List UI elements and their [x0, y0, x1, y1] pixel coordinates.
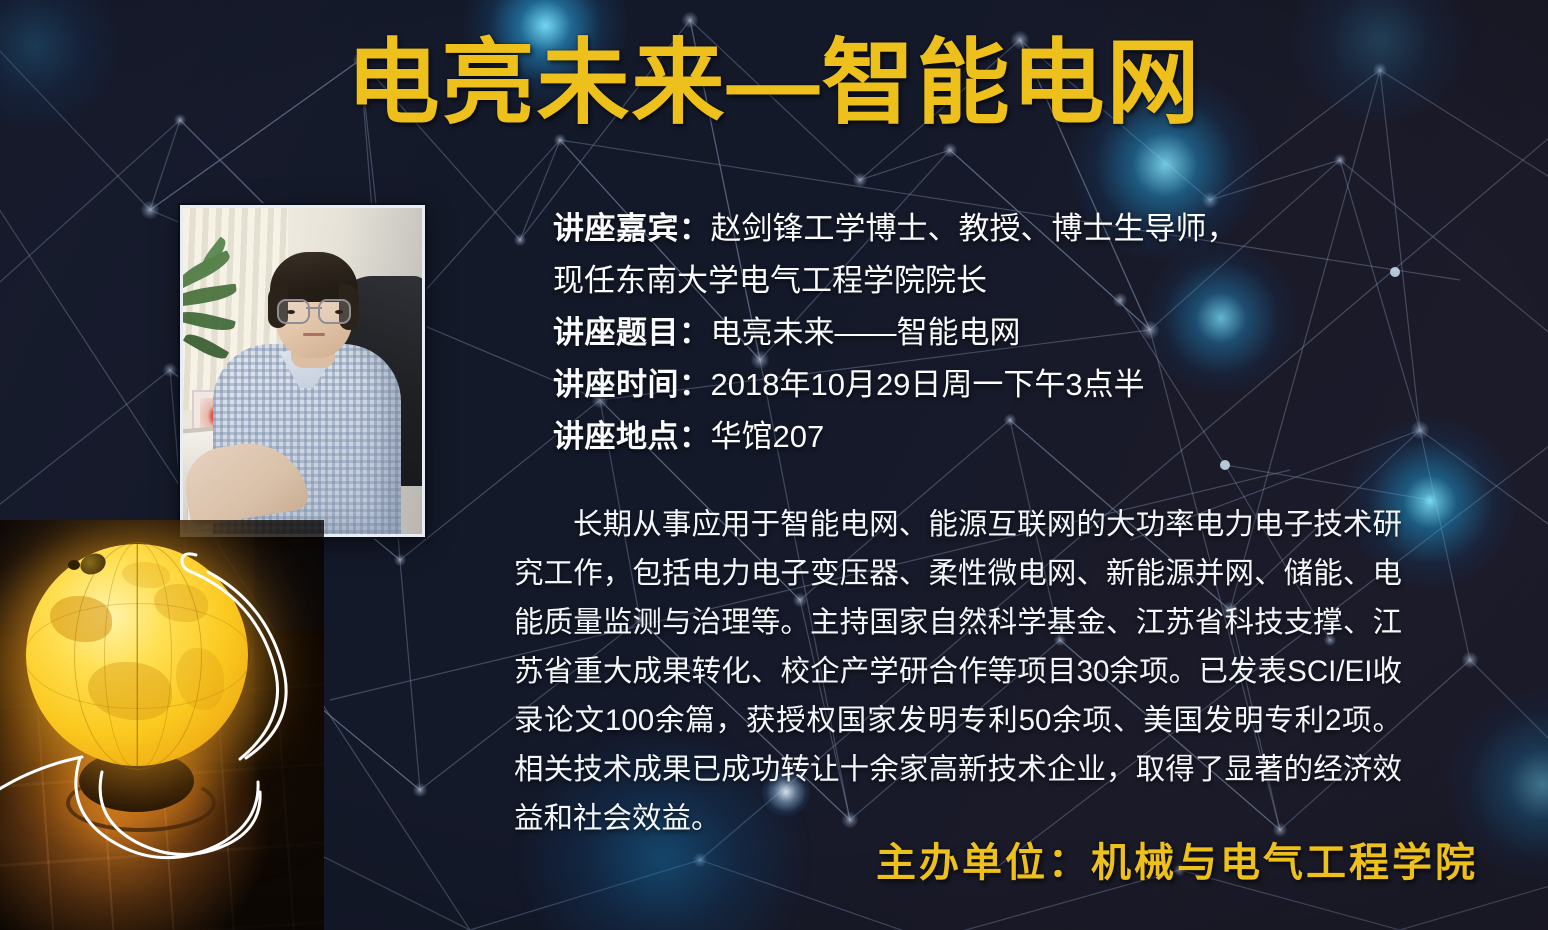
poster-canvas: 电亮未来—智能电网 — [0, 0, 1548, 930]
poster-title: 电亮未来—智能电网 — [0, 34, 1548, 133]
organizer-line: 主办单位：机械与电气工程学院 — [0, 830, 1478, 888]
detail-row-guest: 讲座嘉宾：赵剑锋工学博士、教授、博士生导师， — [553, 203, 1423, 255]
detail-value-guest-name: 赵剑锋 — [711, 211, 804, 246]
detail-value-guest-titles: 工学博士、教授、博士生导师， — [804, 211, 1238, 246]
detail-label-time: 讲座时间： — [553, 367, 711, 402]
detail-value-weekday-time: 周一下午3点半 — [941, 367, 1144, 402]
detail-value-topic: 电亮未来——智能电网 — [711, 315, 1021, 350]
detail-label-venue: 讲座地点： — [553, 419, 711, 454]
speaker-biography: 长期从事应用于智能电网、能源互联网的大功率电力电子技术研究工作，包括电力电子变压… — [514, 500, 1402, 843]
detail-row-topic: 讲座题目：电亮未来——智能电网 — [553, 307, 1423, 359]
detail-value-date: 2018年10月29日 — [711, 367, 942, 402]
detail-row-venue: 讲座地点：华馆207 — [553, 411, 1423, 463]
speaker-photo — [183, 208, 422, 534]
detail-label-topic: 讲座题目： — [553, 315, 711, 350]
detail-value-venue: 华馆207 — [711, 419, 825, 454]
speaker-photo-frame — [180, 205, 425, 537]
detail-row-time: 讲座时间：2018年10月29日周一下午3点半 — [553, 359, 1423, 411]
lecture-details: 讲座嘉宾：赵剑锋工学博士、教授、博士生导师， 现任东南大学电气工程学院院长 讲座… — [553, 203, 1423, 463]
detail-guest-position: 现任东南大学电气工程学院院长 — [553, 255, 1423, 307]
detail-label-guest: 讲座嘉宾： — [553, 211, 711, 246]
